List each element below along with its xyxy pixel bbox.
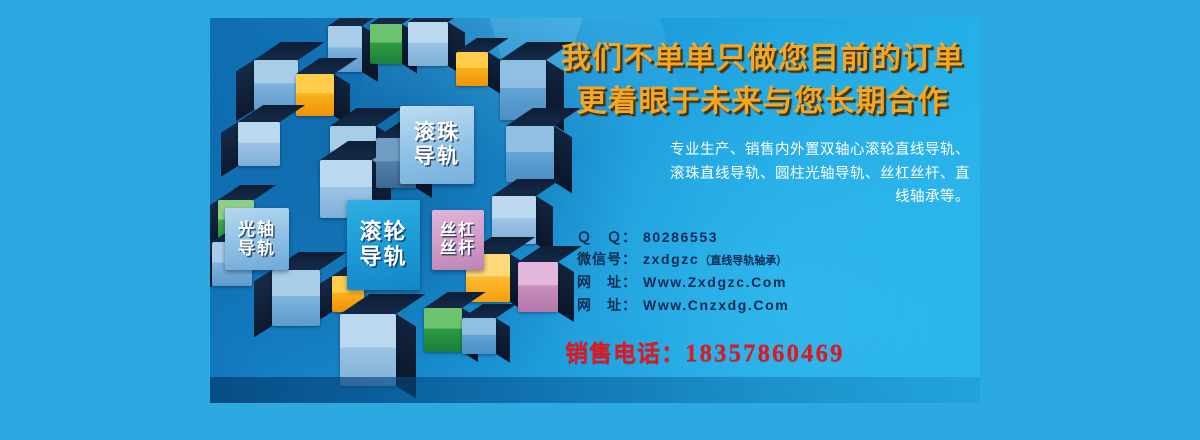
headline: 我们不单单只做您目前的订单 更着眼于未来与您长期合作 — [555, 38, 970, 123]
decorative-cube — [340, 314, 396, 386]
product-label-line2: 导轨 — [359, 245, 407, 270]
contact-row-wechat: 微信号： zxdgzc （直线导轨轴承） — [577, 248, 970, 271]
decorative-cube — [456, 52, 488, 86]
decorative-cube — [518, 262, 558, 312]
description-line-1: 专业生产、销售内外置双轴心滚轮直线导轨、 — [555, 139, 970, 162]
product-label-line1: 滚轮 — [359, 220, 407, 245]
decorative-cube — [238, 122, 280, 166]
contact-block: Ｑ Ｑ： 80286553 微信号： zxdgzc （直线导轨轴承） 网 址： … — [555, 226, 970, 317]
decorative-cube — [506, 126, 554, 182]
description-line-3: 线轴承等。 — [555, 186, 970, 209]
banner-stage: 滚珠 导轨 光轴 导轨 滚轮 导轨 丝杠 丝杆 我们不单单只做您目前的订单 更着… — [0, 0, 1200, 440]
exploding-cubes-graphic: 滚珠 导轨 光轴 导轨 滚轮 导轨 丝杠 丝杆 — [210, 18, 580, 403]
contact-key: Ｑ Ｑ： — [577, 226, 643, 249]
description: 专业生产、销售内外置双轴心滚轮直线导轨、 滚珠直线导轨、圆柱光轴导轨、丝杠丝杆、… — [555, 139, 970, 209]
contact-value-website-1[interactable]: Www.Zxdgzc.Com — [643, 271, 787, 294]
decorative-cube — [408, 22, 448, 66]
decorative-cube — [296, 74, 334, 116]
banner-text-column: 我们不单单只做您目前的订单 更着眼于未来与您长期合作 专业生产、销售内外置双轴心… — [555, 38, 970, 398]
contact-value-qq[interactable]: 80286553 — [643, 226, 718, 249]
product-label-shaft-guide[interactable]: 光轴 导轨 — [225, 208, 289, 270]
decorative-cube — [272, 270, 320, 326]
decorative-cube — [462, 318, 496, 354]
product-label-ball-guide[interactable]: 滚珠 导轨 — [400, 106, 474, 184]
product-label-lead-screw[interactable]: 丝杠 丝杆 — [432, 210, 484, 270]
sales-phone-number[interactable]: 18357860469 — [685, 340, 845, 367]
contact-key: 微信号： — [577, 248, 643, 271]
contact-row-website-2: 网 址： Www.Cnzxdg.Com — [577, 294, 970, 317]
contact-note-wechat: （直线导轨轴承） — [699, 253, 787, 271]
product-label-line2: 丝杆 — [440, 240, 476, 258]
decorative-cube — [254, 60, 298, 110]
description-line-2: 滚珠直线导轨、圆柱光轴导轨、丝杠丝杆、直 — [555, 163, 970, 186]
promo-banner: 滚珠 导轨 光轴 导轨 滚轮 导轨 丝杠 丝杆 我们不单单只做您目前的订单 更着… — [210, 18, 980, 403]
product-label-line1: 滚珠 — [414, 121, 460, 145]
decorative-cube — [370, 24, 402, 64]
product-label-line2: 导轨 — [238, 239, 276, 258]
contact-row-qq: Ｑ Ｑ： 80286553 — [577, 226, 970, 249]
product-label-roller-guide[interactable]: 滚轮 导轨 — [347, 200, 420, 290]
contact-key: 网 址： — [577, 271, 643, 294]
contact-key: 网 址： — [577, 294, 643, 317]
product-label-line1: 光轴 — [238, 220, 276, 239]
decorative-cube — [424, 308, 462, 352]
product-label-line1: 丝杠 — [440, 222, 476, 240]
product-label-line2: 导轨 — [414, 145, 460, 169]
sales-phone-label: 销售电话： — [565, 340, 685, 366]
headline-line-1: 我们不单单只做您目前的订单 — [555, 38, 970, 81]
contact-value-website-2[interactable]: Www.Cnzxdg.Com — [643, 294, 789, 317]
sales-phone[interactable]: 销售电话：18357860469 — [555, 334, 970, 368]
headline-line-2: 更着眼于未来与您长期合作 — [555, 81, 970, 124]
banner-bottom-shade — [210, 377, 980, 403]
contact-row-website-1: 网 址： Www.Zxdgzc.Com — [577, 271, 970, 294]
contact-value-wechat[interactable]: zxdgzc — [643, 248, 699, 271]
